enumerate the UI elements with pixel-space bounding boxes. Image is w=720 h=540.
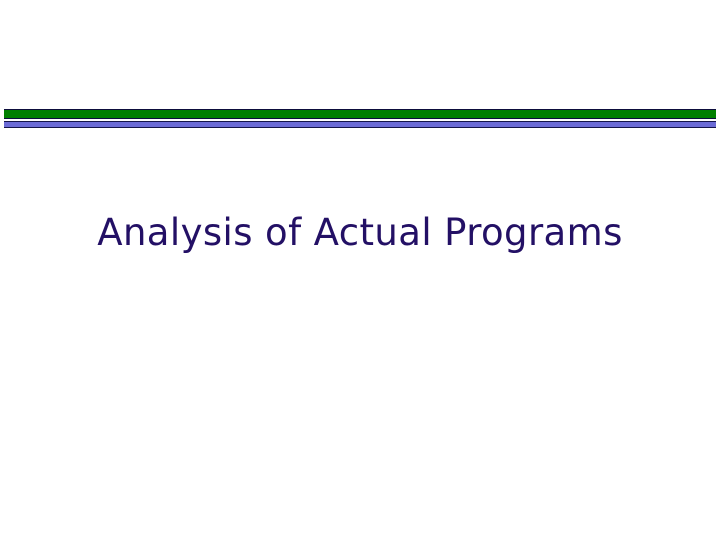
presentation-slide: Analysis of Actual Programs	[0, 0, 720, 540]
green-rule	[4, 109, 716, 119]
blue-rule	[4, 121, 716, 128]
body-placeholder[interactable]	[60, 290, 660, 510]
slide-title: Analysis of Actual Programs	[97, 207, 623, 259]
title-placeholder[interactable]: Analysis of Actual Programs	[0, 207, 720, 259]
